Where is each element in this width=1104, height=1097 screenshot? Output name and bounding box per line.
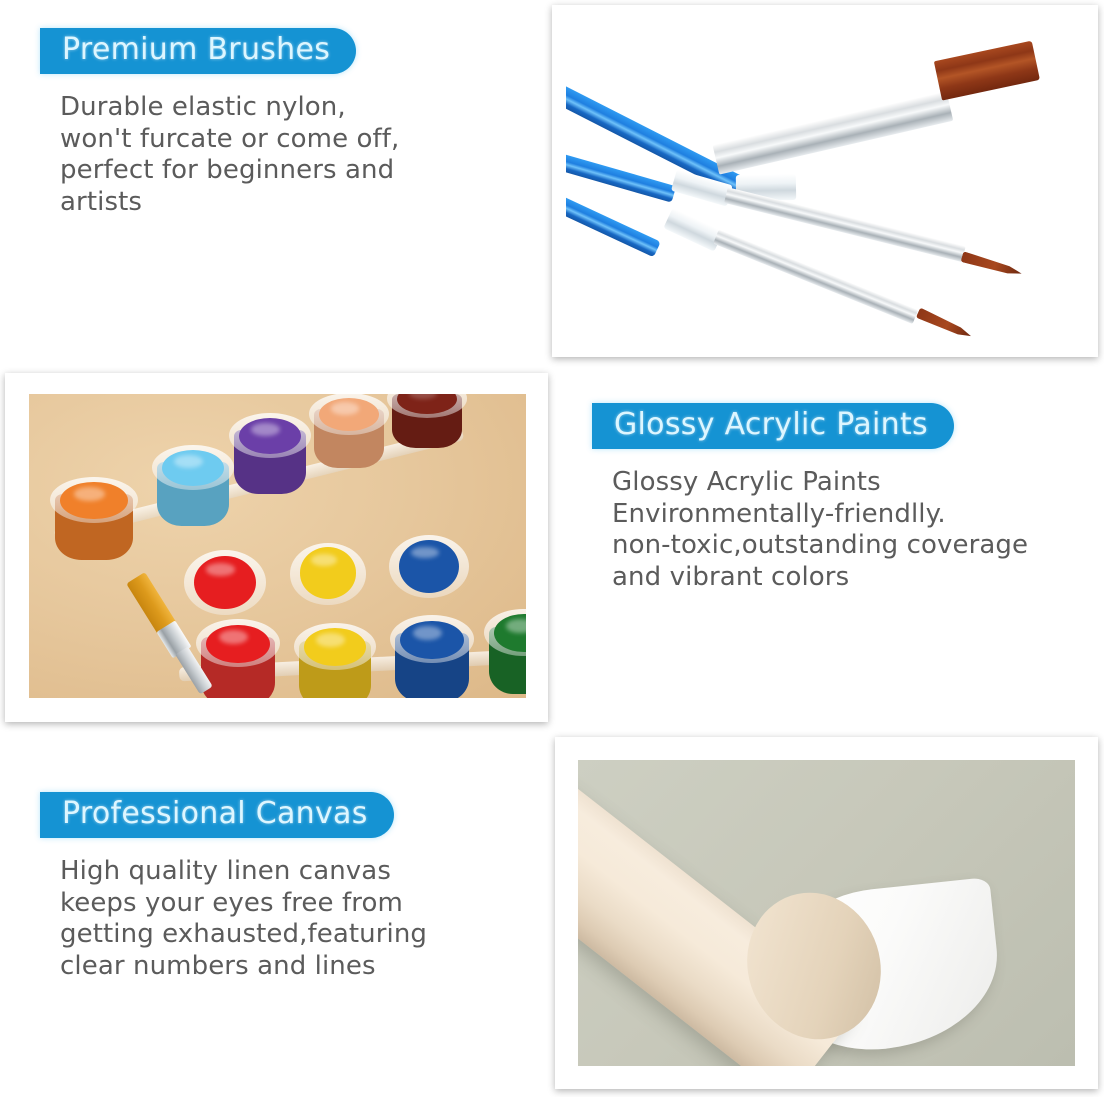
feature-block-premium-brushes: Premium Brushes Durable elastic nylon, w…: [40, 28, 510, 219]
brush-round2-bristles: [916, 307, 973, 341]
feature-block-glossy-acrylic-paints: Glossy Acrylic Paints Glossy Acrylic Pai…: [592, 403, 1082, 594]
acrylic-paint-pots-photo: [5, 373, 548, 722]
paint-pot-green: [489, 612, 526, 694]
canvas-roll-scene: [578, 760, 1075, 1066]
linen-canvas-roll-photo-image: [578, 760, 1075, 1066]
feature-badge-professional-canvas: Professional Canvas: [40, 792, 394, 838]
paintbrush-scene: [566, 17, 1084, 345]
brush-round2-ferrule-clear: [663, 208, 723, 252]
paint-pot-blue: [395, 618, 469, 698]
paintbrushes-photo: [552, 5, 1098, 357]
feature-block-professional-canvas: Professional Canvas High quality linen c…: [40, 792, 510, 983]
paintbrushes-photo-image: [566, 17, 1084, 345]
paint-pot-red: [201, 622, 275, 698]
feature-description-professional-canvas: High quality linen canvas keeps your eye…: [40, 856, 510, 983]
paint-pot-peach: [314, 396, 384, 468]
paint-pot-orange: [55, 480, 133, 560]
feature-description-glossy-acrylic-paints: Glossy Acrylic Paints Environmentally-fr…: [592, 467, 1082, 594]
brush-round1-bristles: [960, 251, 1023, 279]
feature-description-premium-brushes: Durable elastic nylon, won't furcate or …: [40, 92, 510, 219]
feature-badge-glossy-acrylic-paints: Glossy Acrylic Paints: [592, 403, 954, 449]
paint-pot-blue-open: [394, 534, 464, 604]
acrylic-paint-pots-photo-image: [29, 394, 526, 698]
paint-pot-red-open: [189, 549, 261, 621]
feature-badge-premium-brushes: Premium Brushes: [40, 28, 356, 74]
brush-flat-bristles: [934, 41, 1040, 101]
linen-canvas-roll-photo: [555, 737, 1098, 1089]
paint-pot-yellow-open: [295, 542, 361, 610]
paint-pot-light-blue: [157, 448, 229, 526]
paint-pot-maroon: [392, 394, 462, 448]
infographic-canvas: Premium Brushes Durable elastic nylon, w…: [0, 0, 1104, 1097]
paint-pot-yellow: [299, 626, 371, 698]
paint-pots-scene: [29, 394, 526, 698]
brush-flat-ferrule: [713, 91, 954, 174]
paint-pot-purple: [234, 416, 306, 494]
